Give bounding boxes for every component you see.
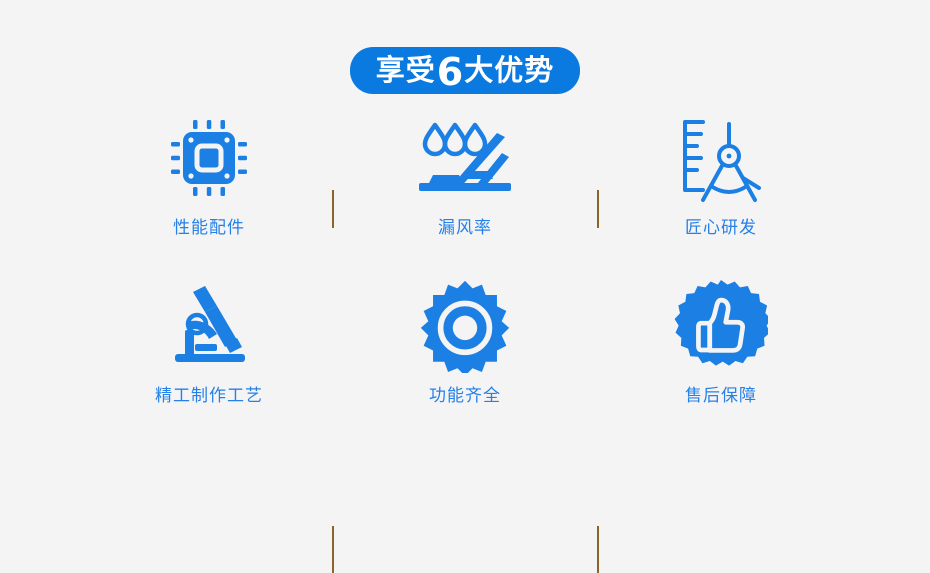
water-repellent-icon: [413, 110, 517, 206]
feature-item-after-sales[interactable]: 售后保障: [593, 278, 849, 405]
feature-item-performance-parts[interactable]: 性能配件: [81, 110, 337, 237]
feature-item-craftsmanship[interactable]: 精工制作工艺: [81, 278, 337, 405]
gear-icon: [418, 278, 512, 374]
column-divider: [597, 190, 599, 228]
badge-prefix-text: 享受: [376, 56, 436, 85]
header-badge: 享受 6 大优势: [350, 47, 580, 94]
feature-item-full-function[interactable]: 功能齐全: [337, 278, 593, 405]
feature-grid: 性能配件: [0, 110, 930, 446]
column-divider: [597, 526, 599, 573]
cpu-chip-icon: [161, 110, 257, 206]
feature-row-bottom: 精工制作工艺 功能齐全: [0, 278, 930, 446]
feature-label: 功能齐全: [429, 388, 501, 405]
badge-number-text: 6: [436, 53, 464, 91]
thumbs-up-badge-icon: [674, 278, 768, 374]
ruler-compass-icon: [673, 110, 769, 206]
feature-label: 漏风率: [438, 220, 492, 237]
column-divider: [332, 526, 334, 573]
microscope-icon: [159, 278, 259, 374]
badge-suffix-text: 大优势: [464, 56, 554, 85]
header-badge-container: 享受 6 大优势: [0, 47, 930, 94]
feature-row-top: 性能配件: [0, 110, 930, 278]
feature-highlights-page: 享受 6 大优势: [0, 0, 930, 493]
feature-label: 精工制作工艺: [155, 388, 263, 405]
feature-label: 性能配件: [173, 220, 245, 237]
feature-item-rnd[interactable]: 匠心研发: [593, 110, 849, 237]
column-divider: [332, 190, 334, 228]
feature-label: 售后保障: [685, 388, 757, 405]
feature-label: 匠心研发: [685, 220, 757, 237]
feature-item-air-leakage[interactable]: 漏风率: [337, 110, 593, 237]
